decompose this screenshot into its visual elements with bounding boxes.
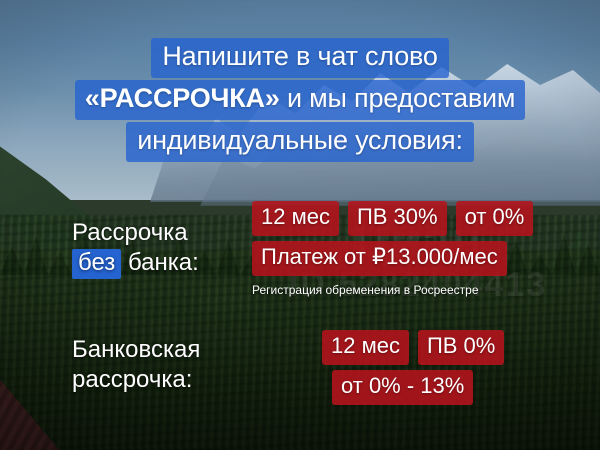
- headline-keyword: «РАССРОЧКА»: [85, 83, 280, 113]
- headline-line-1-wrap: Напишите в чат слово: [0, 38, 600, 78]
- badge-term: 12 мес: [252, 201, 339, 236]
- offer-no-bank-label-line1: Рассрочка: [72, 218, 199, 248]
- badge-rate-range: от 0% - 13%: [332, 370, 473, 405]
- offer-no-bank-badges: 12 месПВ 30%от 0% Платеж от ₽13.000/мес …: [252, 201, 533, 298]
- offer-bank-badges: 12 месПВ 0% от 0% - 13%: [322, 330, 504, 405]
- offer-no-bank-label-line2: без банка:: [72, 248, 199, 279]
- headline-line-1: Напишите в чат слово: [151, 38, 448, 78]
- badge-rate: от 0%: [456, 201, 534, 236]
- headline-block: Напишите в чат слово «РАССРОЧКА» и мы пр…: [0, 38, 600, 164]
- badge-term: 12 мес: [322, 330, 409, 365]
- offer-bank-badge-row-1: 12 месПВ 0%: [322, 330, 504, 365]
- offer-bank-label-line1: Банковская: [72, 335, 200, 365]
- badge-downpayment: ПВ 0%: [418, 330, 504, 365]
- headline-line-2: «РАССРОЧКА» и мы предоставим: [75, 80, 525, 120]
- badge-monthly-payment: Платеж от ₽13.000/мес: [252, 241, 507, 276]
- offer-bank-label: Банковская рассрочка:: [72, 335, 200, 395]
- headline-line-3: индивидуальные условия:: [126, 122, 474, 162]
- headline-line-2-wrap: «РАССРОЧКА» и мы предоставим: [0, 80, 600, 120]
- offer-no-bank-badge-row-1: 12 месПВ 30%от 0%: [252, 201, 533, 236]
- promo-screenshot: Циан ID 5282404413 Напишите в чат слово …: [0, 0, 600, 450]
- offer-no-bank-fineprint: Регистрация обременения в Росреестре: [252, 282, 533, 298]
- offer-bank-badge-row-2: от 0% - 13%: [322, 370, 504, 405]
- highlight-bez: без: [72, 249, 121, 279]
- badge-downpayment: ПВ 30%: [348, 201, 447, 236]
- offer-no-bank-label: Рассрочка без банка:: [72, 218, 199, 279]
- offer-no-bank-label-rest: банка:: [121, 249, 199, 276]
- offer-no-bank-badge-row-2: Платеж от ₽13.000/мес: [252, 241, 533, 276]
- headline-line-2-rest: и мы предоставим: [280, 83, 516, 113]
- offer-bank-label-line2: рассрочка:: [72, 365, 200, 395]
- headline-line-3-wrap: индивидуальные условия:: [0, 122, 600, 162]
